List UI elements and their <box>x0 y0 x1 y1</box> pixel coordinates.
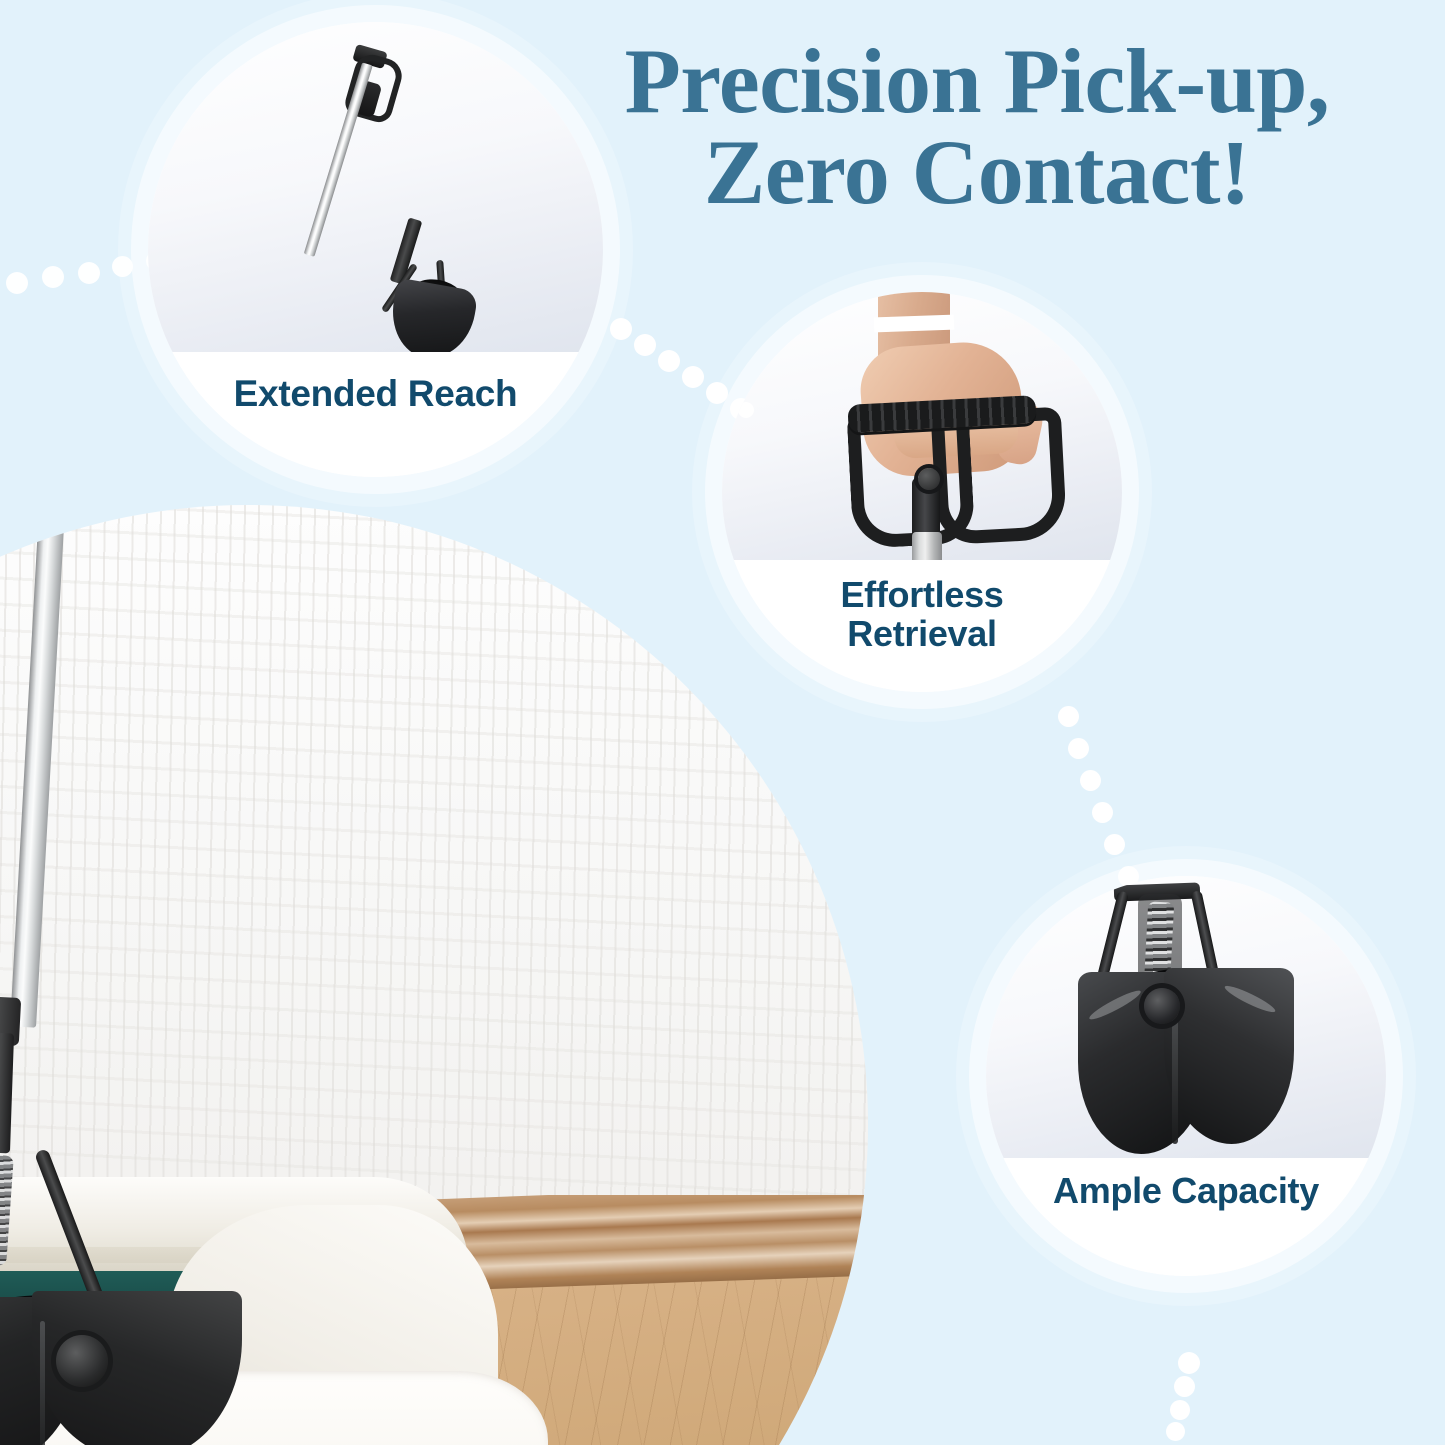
feature-image-extended-reach <box>148 22 603 352</box>
scoop-pivot <box>1144 988 1180 1024</box>
feature-caption-band-effortless-retrieval: Effortless Retrieval <box>722 560 1122 692</box>
hero-scooper-seam <box>40 1321 45 1445</box>
connector-dot <box>78 262 100 284</box>
scooper-bucket <box>385 277 479 352</box>
connector-dot <box>1068 738 1089 759</box>
connector-dot <box>42 266 64 288</box>
scooper-telescoping-pole <box>304 62 373 256</box>
connector-dot <box>112 256 133 277</box>
connector-dot <box>6 272 28 294</box>
connector-dot <box>1080 770 1101 791</box>
aluminium-tube <box>912 532 942 560</box>
feature-image-effortless-retrieval <box>722 292 1122 560</box>
connector-dot <box>610 318 632 340</box>
connector-dot <box>1058 706 1079 727</box>
decorative-bubble-dot <box>722 378 736 400</box>
feature-label-extended-reach: Extended Reach <box>234 352 518 414</box>
connector-dot <box>1104 834 1125 855</box>
feature-caption-band-extended-reach: Extended Reach <box>148 352 603 477</box>
connector-dot <box>634 334 656 356</box>
infographic-canvas: Precision Pick-up, Zero Contact! <box>0 0 1445 1445</box>
feature-callout-ample-capacity[interactable]: Ample Capacity <box>986 876 1386 1276</box>
handle-pivot <box>918 468 940 490</box>
feature-label-ample-capacity: Ample Capacity <box>1053 1158 1319 1211</box>
connector-dot <box>1092 802 1113 823</box>
connector-dot <box>1170 1400 1190 1420</box>
connector-dot <box>1178 1352 1200 1374</box>
feature-caption-band-ample-capacity: Ample Capacity <box>986 1158 1386 1276</box>
connector-dot <box>1166 1422 1185 1441</box>
hero-scooper-pivot <box>56 1335 108 1387</box>
page-title: Precision Pick-up, Zero Contact! <box>612 36 1342 218</box>
feature-callout-extended-reach[interactable]: Extended Reach <box>148 22 603 477</box>
feature-label-effortless-retrieval: Effortless Retrieval <box>840 560 1003 654</box>
connector-dot <box>658 350 680 372</box>
connector-dot <box>682 366 704 388</box>
feature-callout-effortless-retrieval[interactable]: Effortless Retrieval <box>722 292 1122 692</box>
connector-dot <box>1174 1376 1195 1397</box>
sleeve-cuff <box>874 315 954 333</box>
feature-image-ample-capacity <box>986 876 1386 1158</box>
decorative-bubble-dot <box>738 402 754 418</box>
